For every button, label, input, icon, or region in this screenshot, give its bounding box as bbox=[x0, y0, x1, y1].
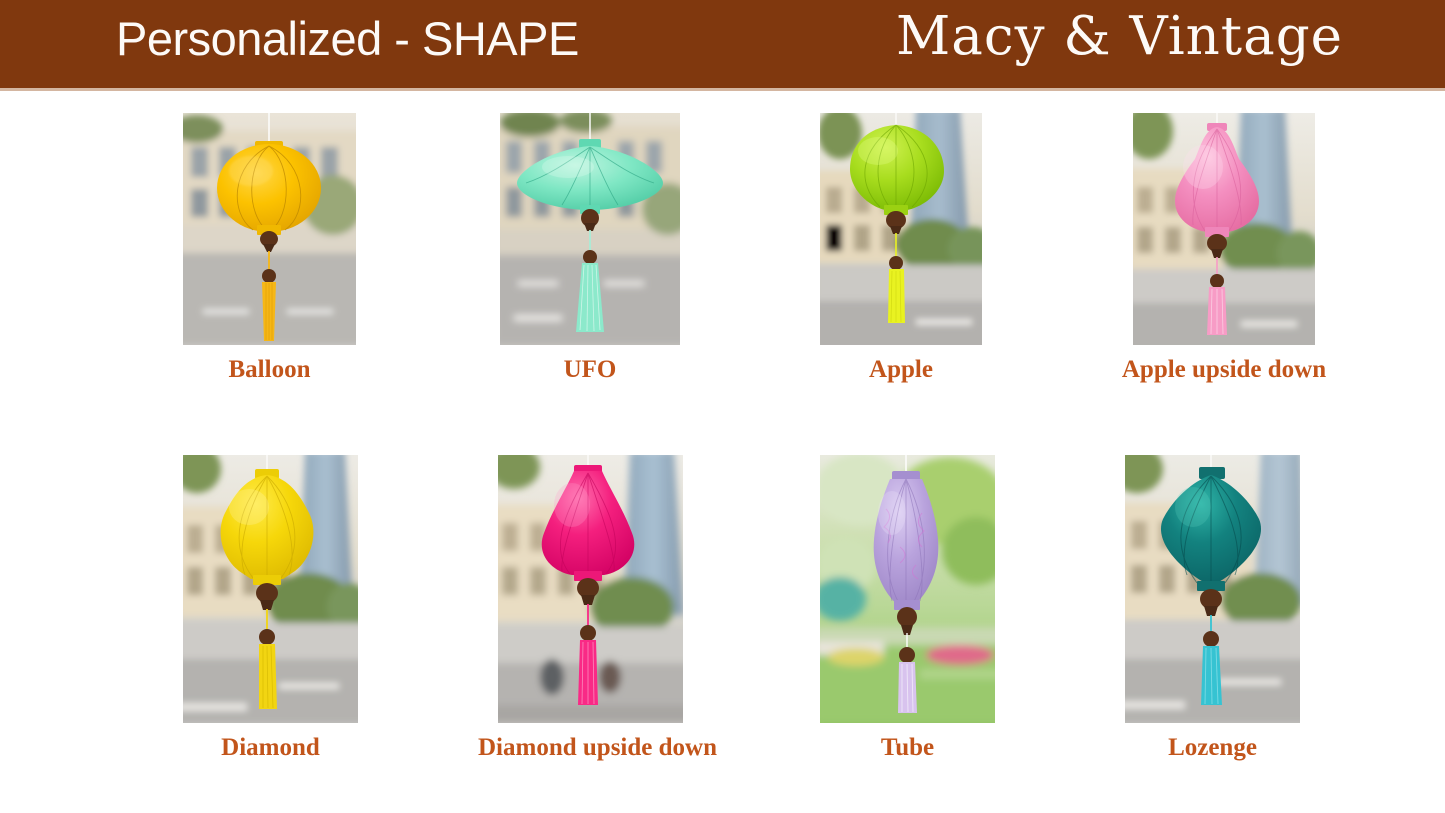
product-label-lozenge: Lozenge bbox=[1105, 734, 1320, 762]
lozenge-lantern-illustration bbox=[1125, 455, 1300, 723]
product-label-diamond-upside-down: Diamond upside down bbox=[478, 734, 703, 762]
page-header: Personalized - SHAPE Macy & Vintage bbox=[0, 0, 1445, 88]
product-photo-apple[interactable] bbox=[820, 113, 982, 345]
apple-upside-down-lantern-illustration bbox=[1133, 113, 1315, 345]
ufo-lantern-illustration bbox=[500, 113, 680, 345]
apple-lantern-illustration bbox=[820, 113, 982, 345]
lantern-shape-grid: Balloon bbox=[0, 88, 1445, 813]
product-label-apple-upside-down: Apple upside down bbox=[1113, 356, 1335, 384]
product-photo-balloon[interactable] bbox=[183, 113, 356, 345]
product-label-balloon: Balloon bbox=[163, 356, 376, 384]
diamond-lantern-illustration bbox=[183, 455, 358, 723]
product-label-ufo: UFO bbox=[480, 356, 700, 384]
product-photo-lozenge[interactable] bbox=[1125, 455, 1300, 723]
product-label-apple: Apple bbox=[800, 356, 1002, 384]
tube-lantern-illustration bbox=[820, 455, 995, 723]
page-title: Personalized - SHAPE bbox=[116, 11, 579, 66]
balloon-lantern-illustration bbox=[183, 113, 356, 345]
product-label-diamond: Diamond bbox=[163, 734, 378, 762]
product-label-tube: Tube bbox=[800, 734, 1015, 762]
product-photo-diamond[interactable] bbox=[183, 455, 358, 723]
product-photo-tube[interactable] bbox=[820, 455, 995, 723]
brand-logo-text: Macy & Vintage bbox=[896, 6, 1343, 67]
product-photo-diamond-upside-down[interactable] bbox=[498, 455, 683, 723]
product-photo-apple-upside-down[interactable] bbox=[1133, 113, 1315, 345]
product-photo-ufo[interactable] bbox=[500, 113, 680, 345]
diamond-upside-down-lantern-illustration bbox=[498, 455, 683, 723]
